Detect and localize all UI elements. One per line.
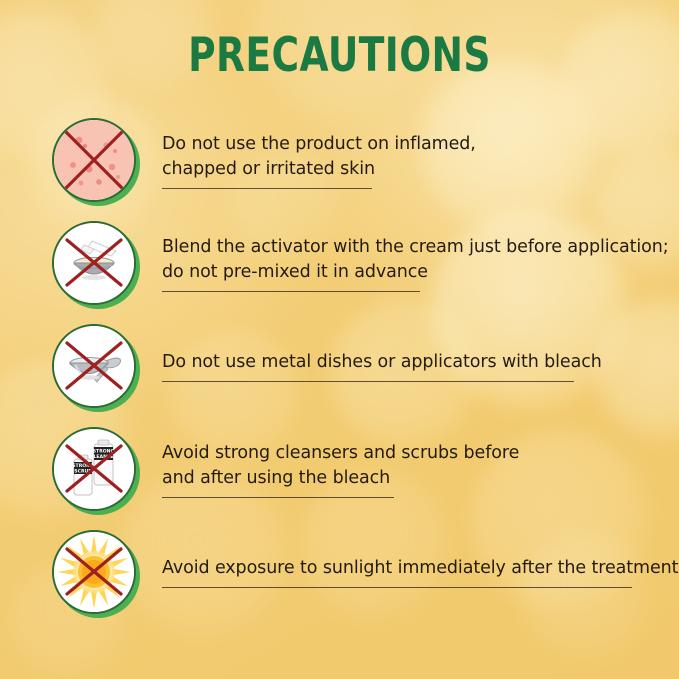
- underline-rule: [162, 381, 574, 382]
- list-item: Avoid exposure to sunlight immediately a…: [0, 530, 679, 633]
- precaution-text: Do not use metal dishes or applicators w…: [162, 324, 679, 382]
- precaution-text: Avoid strong cleansers and scrubs before…: [162, 427, 679, 498]
- precaution-text: Do not use the product on inflamed, chap…: [162, 118, 679, 189]
- bowl-spatula-graphic: [54, 223, 134, 303]
- badge-face: [52, 324, 136, 408]
- inflamed-skin-graphic: [54, 120, 134, 200]
- precaution-text: Avoid exposure to sunlight immediately a…: [162, 530, 679, 588]
- page-title: PRECAUTIONS: [68, 28, 611, 83]
- metal-bowl-graphic: [54, 326, 134, 406]
- underline-rule: [162, 291, 420, 292]
- precautions-list: Do not use the product on inflamed, chap…: [0, 118, 679, 633]
- underline-rule: [162, 497, 394, 498]
- precautions-infographic: PRECAUTIONS: [0, 0, 679, 679]
- precaution-line: Avoid exposure to sunlight immediately a…: [162, 556, 679, 581]
- list-item: STRONG CLEANSER STRONG SCRUB: [0, 427, 679, 530]
- underline-rule: [162, 188, 372, 189]
- list-item: Do not use metal dishes or applicators w…: [0, 324, 679, 427]
- precaution-text: Blend the activator with the cream just …: [162, 221, 679, 292]
- precaution-line: Avoid strong cleansers and scrubs before: [162, 441, 679, 466]
- premixed-bowl-crossed-icon: [52, 221, 140, 309]
- precaution-line: Do not use the product on inflamed,: [162, 132, 679, 157]
- cleanser-scrub-tubes-crossed-icon: STRONG CLEANSER STRONG SCRUB: [52, 427, 140, 515]
- precaution-line: Do not use metal dishes or applicators w…: [162, 350, 679, 375]
- sun-graphic: [54, 532, 134, 612]
- underline-rule: [162, 587, 632, 588]
- precaution-line: and after using the bleach: [162, 466, 679, 491]
- precaution-line: chapped or irritated skin: [162, 157, 679, 182]
- precaution-line: Blend the activator with the cream just …: [162, 235, 679, 260]
- tubes-graphic: STRONG CLEANSER STRONG SCRUB: [54, 429, 134, 509]
- badge-face: [52, 530, 136, 614]
- precaution-line: do not pre-mixed it in advance: [162, 260, 679, 285]
- badge-face: [52, 118, 136, 202]
- metal-bowl-spoon-crossed-icon: [52, 324, 140, 412]
- inflamed-skin-crossed-icon: [52, 118, 140, 206]
- badge-face: [52, 221, 136, 305]
- badge-face: STRONG CLEANSER STRONG SCRUB: [52, 427, 136, 511]
- list-item: Blend the activator with the cream just …: [0, 221, 679, 324]
- list-item: Do not use the product on inflamed, chap…: [0, 118, 679, 221]
- sun-crossed-icon: [52, 530, 140, 618]
